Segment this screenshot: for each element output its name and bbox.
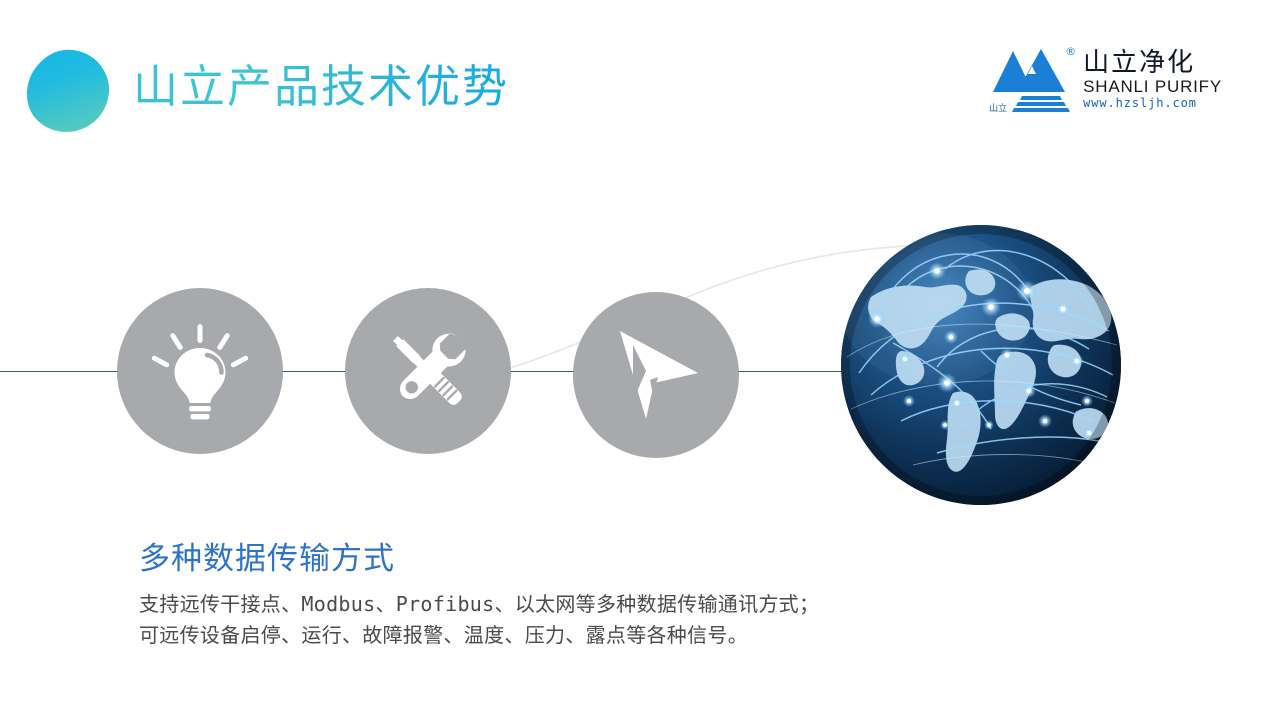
lightbulb-icon bbox=[152, 322, 248, 420]
body-line-2: 可远传设备启停、运行、故障报警、温度、压力、露点等各种信号。 bbox=[139, 620, 819, 651]
logo-company-en: SHANLI PURIFY bbox=[1083, 77, 1222, 96]
blob-decoration-icon bbox=[22, 48, 114, 134]
logo-website: www.hzsljh.com bbox=[1083, 96, 1222, 111]
wrench-screwdriver-icon bbox=[376, 319, 480, 423]
logo-text-block: 山立净化 SHANLI PURIFY www.hzsljh.com bbox=[1083, 44, 1222, 111]
page-title: 山立产品技术优势 bbox=[133, 58, 509, 116]
shanli-mountain-logo-icon: ® 山立 bbox=[989, 44, 1077, 116]
feature-circle-cursor[interactable] bbox=[573, 292, 739, 458]
section-body-text: 支持远传干接点、Modbus、Profibus、以太网等多种数据传输通讯方式； … bbox=[139, 589, 819, 651]
registered-trademark-icon: ® bbox=[1065, 46, 1076, 57]
section-subheading: 多种数据传输方式 bbox=[139, 539, 395, 579]
cursor-arrow-icon bbox=[606, 325, 706, 425]
feature-circle-lightbulb[interactable] bbox=[117, 288, 283, 454]
logo-company-cn: 山立净化 bbox=[1083, 49, 1222, 77]
network-globe-image bbox=[841, 225, 1121, 505]
slide-canvas: 山立产品技术优势 ® 山立 山立净化 SHANLI PURIFY www.hzs… bbox=[0, 0, 1280, 720]
body-line-1: 支持远传干接点、Modbus、Profibus、以太网等多种数据传输通讯方式； bbox=[139, 589, 819, 620]
feature-circle-tools[interactable] bbox=[345, 288, 511, 454]
logo-caption: 山立 bbox=[989, 105, 1007, 114]
company-logo: ® 山立 山立净化 SHANLI PURIFY www.hzsljh.com bbox=[989, 44, 1222, 116]
